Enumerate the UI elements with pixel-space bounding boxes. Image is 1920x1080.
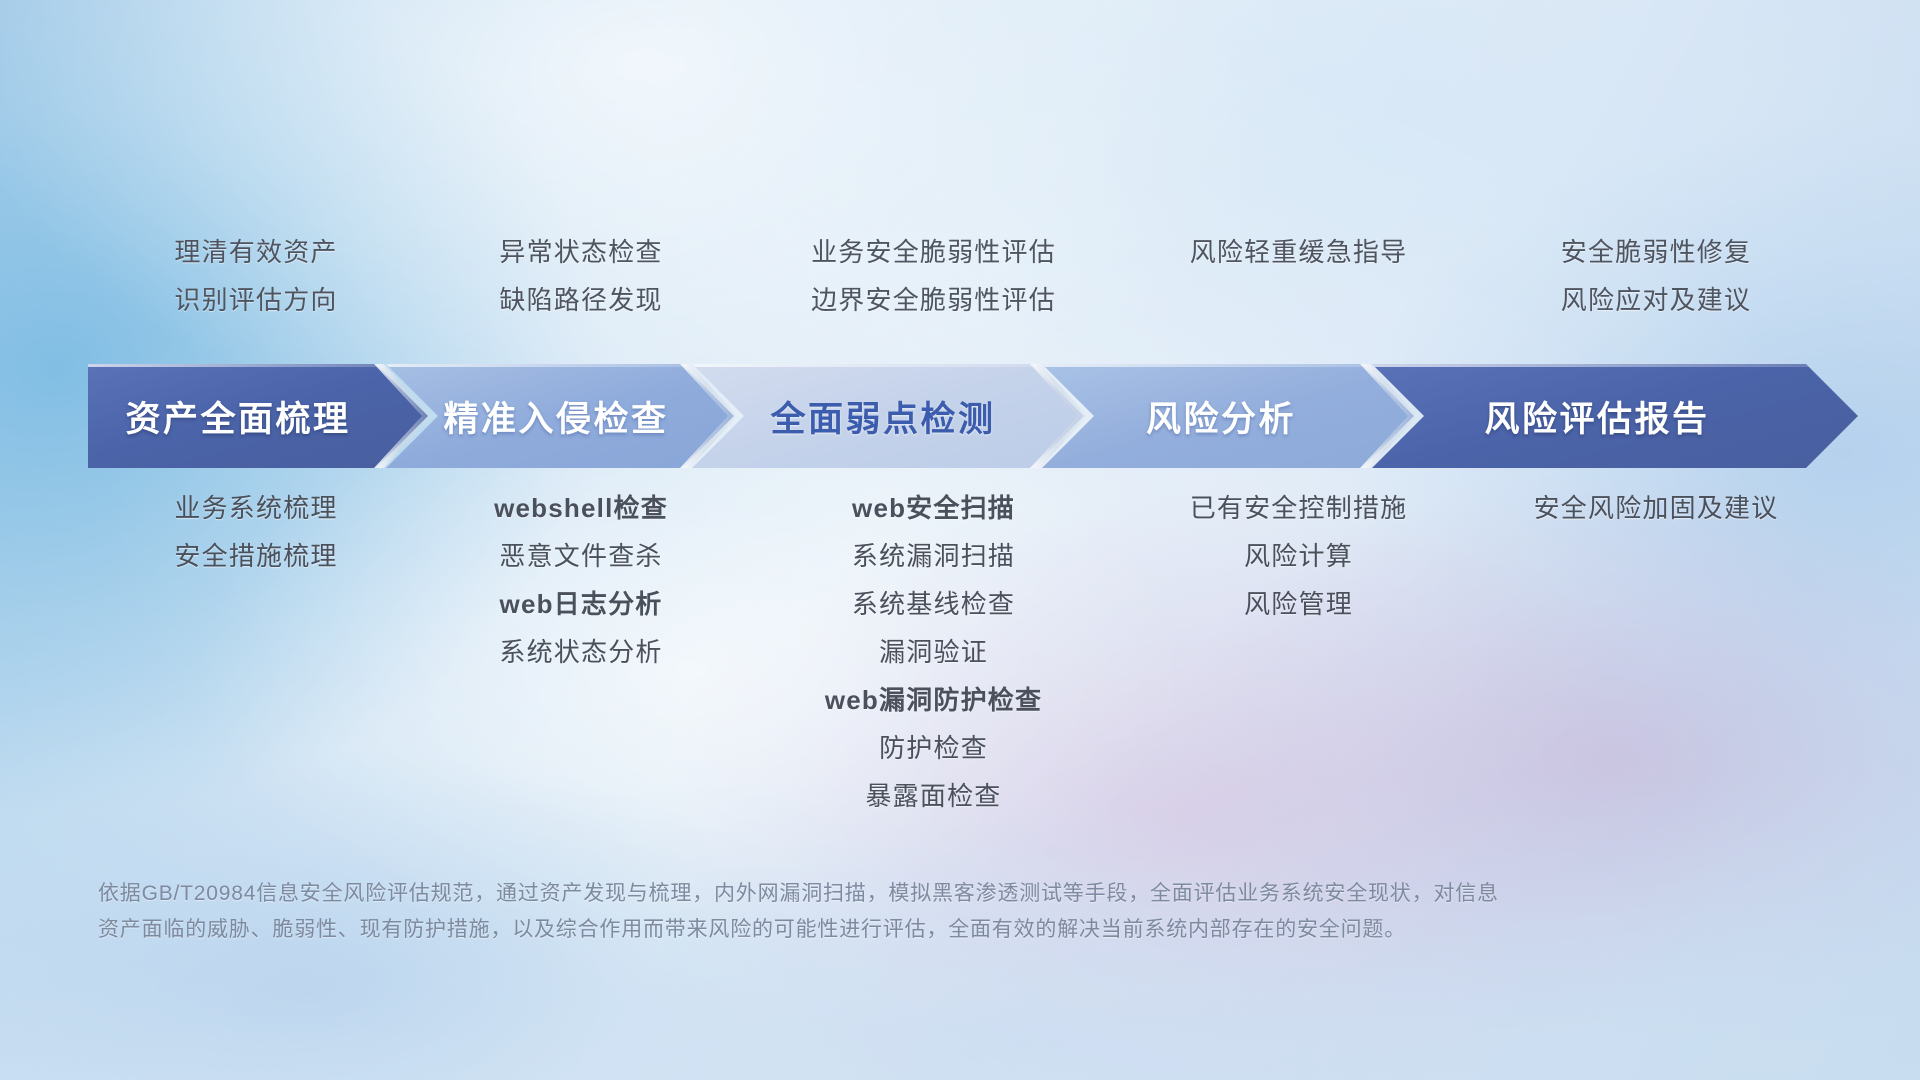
top-captions-assessment-report: 安全脆弱性修复 风险应对及建议 [1476,228,1836,328]
bottom-caption-line: 系统状态分析 [499,628,662,676]
bottom-caption-line: web安全扫描 [852,484,1015,532]
top-caption-line: 风险轻重缓急指导 [1190,228,1408,276]
bottom-caption-line: 防护检查 [879,724,988,772]
bottom-caption-line: 安全风险加固及建议 [1534,484,1779,532]
footer-line-2: 资产面临的威胁、脆弱性、现有防护措施，以及综合作用而带来风险的可能性进行评估，全… [98,912,1728,948]
bottom-captions-asset-inventory: 业务系统梳理 安全措施梳理 [96,484,416,580]
top-caption-line: 识别评估方向 [174,276,337,324]
bottom-caption-line: webshell检查 [494,484,668,532]
footer-description: 依据GB/T20984信息安全风险评估规范，通过资产发现与梳理，内外网漏洞扫描，… [98,876,1728,948]
bottom-caption-line: 系统基线检查 [852,580,1015,628]
bottom-captions-weakness-detection: web安全扫描 系统漏洞扫描 系统基线检查 漏洞验证 web漏洞防护检查 防护检… [746,484,1121,820]
bottom-caption-line: 暴露面检查 [865,772,1001,820]
top-caption-line: 缺陷路径发现 [499,276,662,324]
bottom-captions-risk-analysis: 已有安全控制措施 风险计算 风险管理 [1121,484,1476,628]
chevron-label: 风险分析 [1146,391,1296,442]
top-caption-line: 业务安全脆弱性评估 [811,228,1056,276]
chevron-risk-analysis[interactable]: 风险分析 [1042,364,1414,468]
top-captions-asset-inventory: 理清有效资产 识别评估方向 [96,228,416,328]
chevron-label: 精准入侵检查 [443,391,668,442]
chevron-label: 全面弱点检测 [770,391,995,442]
chevron-asset-inventory[interactable]: 资产全面梳理 [88,364,428,468]
bottom-captions-intrusion-check: webshell检查 恶意文件查杀 web日志分析 系统状态分析 [416,484,746,676]
bottom-caption-line: web漏洞防护检查 [825,676,1042,724]
process-chevron-band: 资产全面梳理 精准入侵检查 全面弱点检测 风险分析 风险评估报告 [88,364,1858,468]
bottom-captions-assessment-report: 安全风险加固及建议 [1476,484,1836,532]
top-captions-intrusion-check: 异常状态检查 缺陷路径发现 [416,228,746,328]
chevron-assessment-report[interactable]: 风险评估报告 [1372,364,1858,468]
top-caption-line: 异常状态检查 [499,228,662,276]
chevron-label: 风险评估报告 [1484,391,1709,442]
bottom-caption-line: 安全措施梳理 [174,532,337,580]
chevron-label: 资产全面梳理 [125,391,350,442]
top-captions-risk-analysis: 风险轻重缓急指导 [1121,228,1476,328]
top-caption-line: 安全脆弱性修复 [1561,228,1751,276]
bottom-caption-line: 风险计算 [1244,532,1353,580]
bottom-caption-line: 系统漏洞扫描 [852,532,1015,580]
top-caption-line: 理清有效资产 [174,228,337,276]
bottom-caption-line: 恶意文件查杀 [499,532,662,580]
bottom-caption-line: 风险管理 [1244,580,1353,628]
bottom-caption-line: 业务系统梳理 [174,484,337,532]
top-caption-line: 风险应对及建议 [1561,276,1751,324]
process-diagram: 理清有效资产 识别评估方向 异常状态检查 缺陷路径发现 业务安全脆弱性评估 边界… [0,0,1920,1080]
top-captions-weakness-detection: 业务安全脆弱性评估 边界安全脆弱性评估 [746,228,1121,328]
top-caption-line: 边界安全脆弱性评估 [811,276,1056,324]
bottom-caption-line: web日志分析 [500,580,663,628]
footer-line-1: 依据GB/T20984信息安全风险评估规范，通过资产发现与梳理，内外网漏洞扫描，… [98,876,1728,912]
bottom-caption-line: 漏洞验证 [879,628,988,676]
chevron-weakness-detection[interactable]: 全面弱点检测 [692,364,1084,468]
bottom-caption-line: 已有安全控制措施 [1190,484,1408,532]
chevron-intrusion-check[interactable]: 精准入侵检查 [386,364,734,468]
bottom-captions-row: 业务系统梳理 安全措施梳理 webshell检查 恶意文件查杀 web日志分析 … [96,484,1836,820]
top-captions-row: 理清有效资产 识别评估方向 异常状态检查 缺陷路径发现 业务安全脆弱性评估 边界… [96,228,1836,328]
